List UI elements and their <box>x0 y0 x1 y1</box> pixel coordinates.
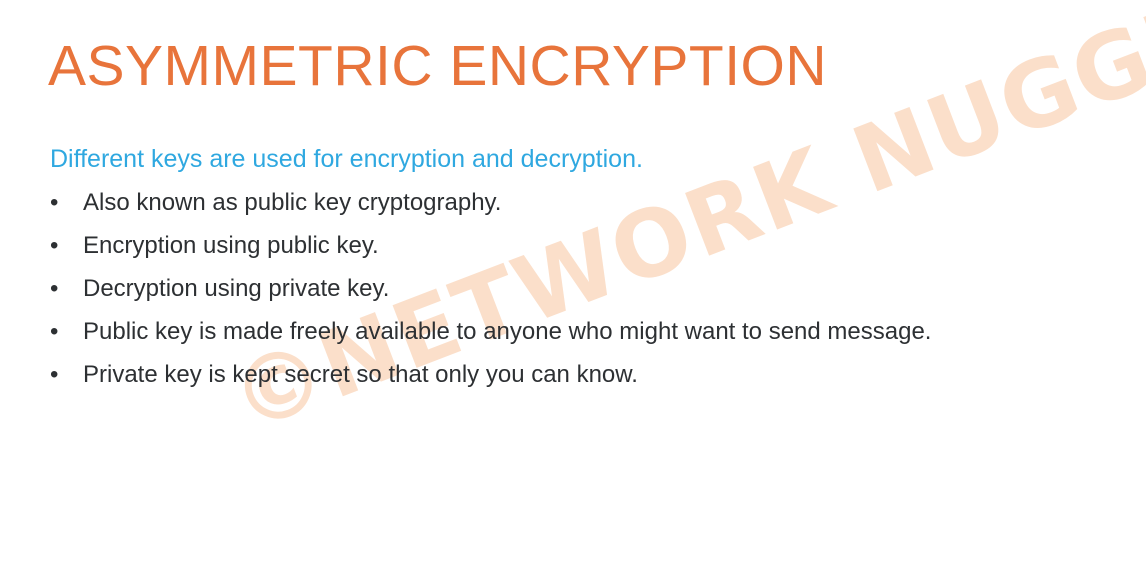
list-item-label: Public key is made freely available to a… <box>83 315 931 349</box>
bullet-point-icon: • <box>50 229 64 263</box>
list-item: • Decryption using private key. <box>48 272 1118 315</box>
list-item: • Public key is made freely available to… <box>48 315 1118 358</box>
bullet-list: • Also known as public key cryptography.… <box>48 186 1118 401</box>
presentation-slide: ©NETWORK NUGGETS ASYMMETRIC ENCRYPTION D… <box>0 0 1146 579</box>
list-item: • Encryption using public key. <box>48 229 1118 272</box>
bullet-point-icon: • <box>50 272 64 306</box>
list-item: • Private key is kept secret so that onl… <box>48 358 1118 401</box>
list-item-label: Private key is kept secret so that only … <box>83 358 638 392</box>
list-item: • Also known as public key cryptography. <box>48 186 1118 229</box>
bullet-point-icon: • <box>50 315 64 349</box>
slide-lead-line: Different keys are used for encryption a… <box>50 143 643 175</box>
bullet-point-icon: • <box>50 186 64 220</box>
page-title: ASYMMETRIC ENCRYPTION <box>48 33 827 99</box>
list-item-label: Also known as public key cryptography. <box>83 186 501 220</box>
list-item-label: Decryption using private key. <box>83 272 389 306</box>
list-item-label: Encryption using public key. <box>83 229 379 263</box>
bullet-point-icon: • <box>50 358 64 392</box>
